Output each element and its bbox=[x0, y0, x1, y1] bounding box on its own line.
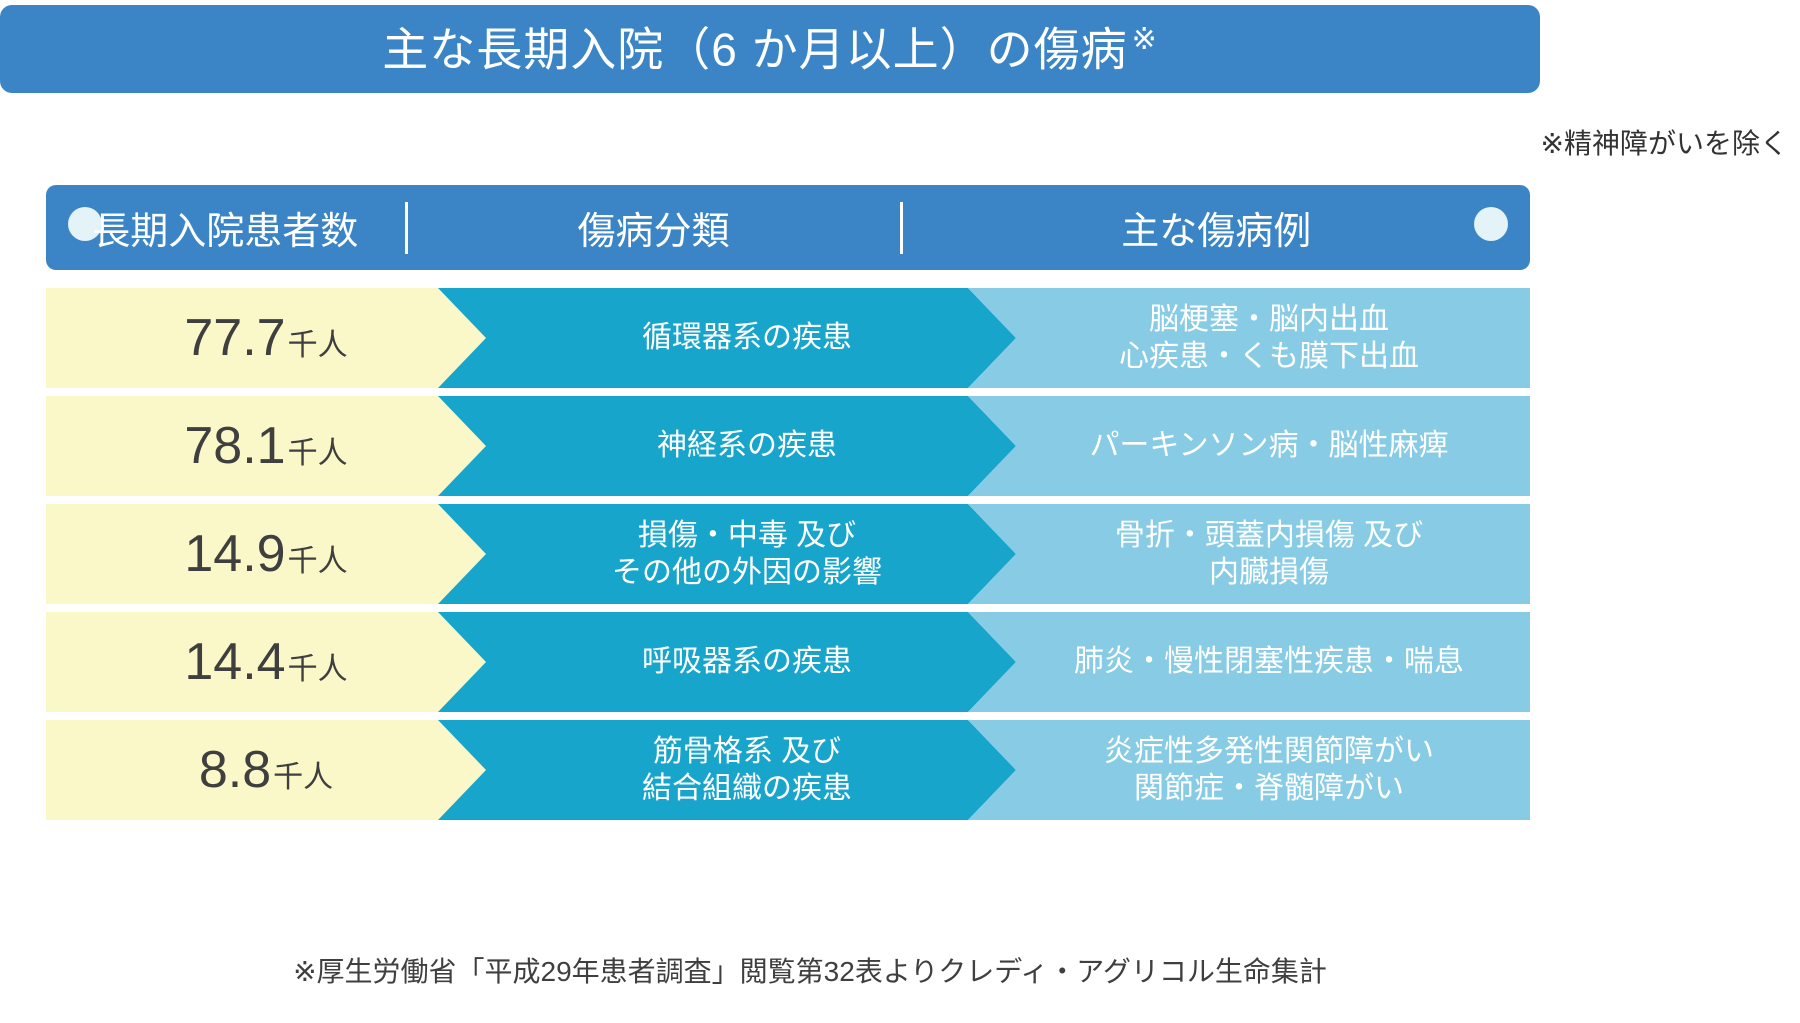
page-title-bar: 主な長期入院（6 か月以上）の傷病※ bbox=[0, 5, 1540, 93]
row-count-band: 78.1千人 bbox=[46, 396, 486, 496]
row-category-band: 神経系の疾患 bbox=[438, 396, 1016, 496]
count-number: 8.8 bbox=[199, 741, 271, 799]
page-title-text: 主な長期入院（6 か月以上）の傷病 bbox=[382, 24, 1127, 76]
row-example-text: 炎症性多発性関節障がい 関節症・脊髄障がい bbox=[1064, 733, 1434, 808]
column-header-category: 傷病分類 bbox=[408, 185, 900, 270]
row-example-band: 骨折・頭蓋内損傷 及び 内臓損傷 bbox=[968, 504, 1530, 604]
row-count-value: 14.4千人 bbox=[184, 632, 347, 692]
count-unit: 千人 bbox=[273, 761, 333, 794]
row-example-band: パーキンソン病・脳性麻痺 bbox=[968, 396, 1530, 496]
row-example-text: 骨折・頭蓋内損傷 及び 内臓損傷 bbox=[1075, 517, 1423, 592]
column-header-example: 主な傷病例 bbox=[903, 185, 1530, 270]
page-title: 主な長期入院（6 か月以上）の傷病※ bbox=[382, 25, 1158, 72]
row-example-text: パーキンソン病・脳性麻痺 bbox=[1049, 427, 1448, 465]
count-number: 14.9 bbox=[184, 525, 285, 583]
row-count-value: 8.8千人 bbox=[199, 740, 333, 800]
data-rows: 77.7千人循環器系の疾患脳梗塞・脳内出血 心疾患・くも膜下出血78.1千人神経… bbox=[46, 288, 1530, 828]
count-unit: 千人 bbox=[288, 545, 348, 578]
table-row: 77.7千人循環器系の疾患脳梗塞・脳内出血 心疾患・くも膜下出血 bbox=[46, 288, 1530, 388]
page-title-asterisk: ※ bbox=[1132, 23, 1158, 56]
decorative-dot-right-icon bbox=[1474, 207, 1508, 241]
row-count-value: 14.9千人 bbox=[184, 524, 347, 584]
column-header-bar: 長期入院患者数 傷病分類 主な傷病例 bbox=[46, 185, 1530, 270]
row-example-text: 肺炎・慢性閉塞性疾患・喘息 bbox=[1034, 643, 1464, 681]
row-category-text: 神経系の疾患 bbox=[617, 427, 837, 465]
row-example-band: 脳梗塞・脳内出血 心疾患・くも膜下出血 bbox=[968, 288, 1530, 388]
count-unit: 千人 bbox=[288, 653, 348, 686]
row-category-text: 筋骨格系 及び 結合組織の疾患 bbox=[602, 733, 852, 808]
count-number: 78.1 bbox=[184, 417, 285, 475]
row-category-band: 呼吸器系の疾患 bbox=[438, 612, 1016, 712]
row-count-band: 14.9千人 bbox=[46, 504, 486, 604]
row-category-text: 呼吸器系の疾患 bbox=[602, 643, 852, 681]
table-row: 14.9千人損傷・中毒 及び その他の外因の影響骨折・頭蓋内損傷 及び 内臓損傷 bbox=[46, 504, 1530, 604]
row-category-text: 循環器系の疾患 bbox=[602, 319, 852, 357]
source-credit: ※厚生労働省「平成29年患者調査」閲覧第32表よりクレディ・アグリコル生命集計 bbox=[0, 950, 1620, 990]
count-unit: 千人 bbox=[288, 437, 348, 470]
count-number: 77.7 bbox=[184, 309, 285, 367]
exclusion-note: ※精神障がいを除く bbox=[1541, 122, 1788, 162]
row-category-band: 循環器系の疾患 bbox=[438, 288, 1016, 388]
row-category-text: 損傷・中毒 及び その他の外因の影響 bbox=[572, 517, 882, 592]
table-row: 8.8千人筋骨格系 及び 結合組織の疾患炎症性多発性関節障がい 関節症・脊髄障が… bbox=[46, 720, 1530, 820]
row-count-band: 77.7千人 bbox=[46, 288, 486, 388]
row-example-band: 炎症性多発性関節障がい 関節症・脊髄障がい bbox=[968, 720, 1530, 820]
row-count-value: 77.7千人 bbox=[184, 308, 347, 368]
count-number: 14.4 bbox=[184, 633, 285, 691]
table-row: 14.4千人呼吸器系の疾患肺炎・慢性閉塞性疾患・喘息 bbox=[46, 612, 1530, 712]
count-unit: 千人 bbox=[288, 329, 348, 362]
row-count-band: 14.4千人 bbox=[46, 612, 486, 712]
column-header-count: 長期入院患者数 bbox=[46, 185, 405, 270]
row-count-value: 78.1千人 bbox=[184, 416, 347, 476]
row-count-band: 8.8千人 bbox=[46, 720, 486, 820]
row-category-band: 損傷・中毒 及び その他の外因の影響 bbox=[438, 504, 1016, 604]
table-row: 78.1千人神経系の疾患パーキンソン病・脳性麻痺 bbox=[46, 396, 1530, 496]
row-example-text: 脳梗塞・脳内出血 心疾患・くも膜下出血 bbox=[1079, 301, 1419, 376]
row-example-band: 肺炎・慢性閉塞性疾患・喘息 bbox=[968, 612, 1530, 712]
row-category-band: 筋骨格系 及び 結合組織の疾患 bbox=[438, 720, 1016, 820]
